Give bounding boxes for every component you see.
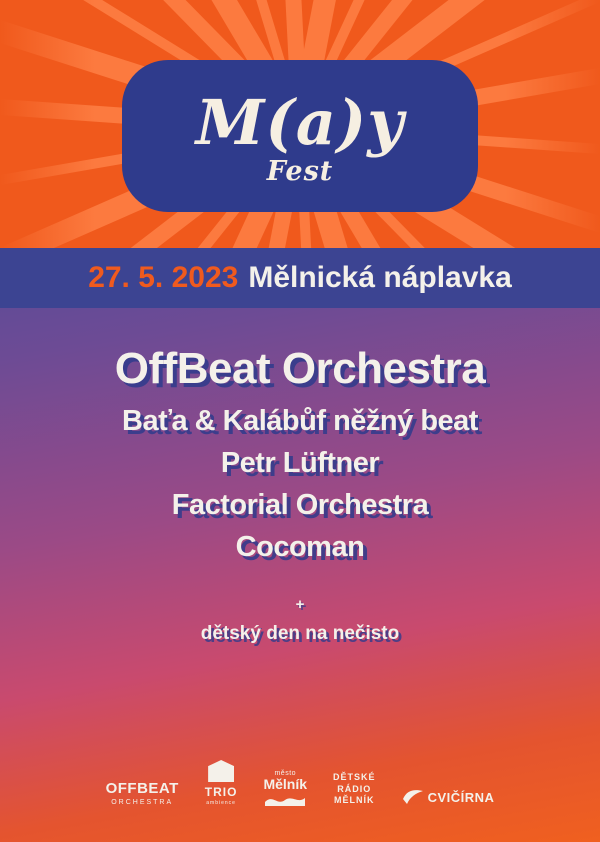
sponsor-label-3: MĚLNÍK: [334, 795, 375, 806]
sponsor-label: TRIO: [205, 786, 238, 798]
sunburst-fade-left: [0, 0, 95, 248]
extra-program: dětský den na nečisto: [0, 623, 600, 645]
sponsor-label: DĚTSKÉ: [333, 772, 376, 783]
date-bar: 27. 5. 2023 Mělnická náplavka: [0, 248, 600, 308]
trio-house-icon: [208, 760, 234, 782]
lineup-act: OffBeat Orchestra: [0, 346, 600, 392]
lineup-act: Cocoman: [0, 532, 600, 562]
logo-title: M(a)y: [196, 92, 405, 154]
sponsor-label: CVIČÍRNA: [428, 790, 495, 805]
logo-subtitle: Fest: [267, 158, 334, 185]
plus-sign: +: [0, 596, 600, 613]
sponsor-logos: OFFBEAT ORCHESTRA TRIO ambience město Mě…: [0, 760, 600, 806]
lineup-act: Baťa & Kalábůf něžný beat: [0, 406, 600, 436]
sponsor-label-2: RÁDIO: [337, 784, 371, 795]
festival-poster: M(a)y Fest 27. 5. 2023 Mělnická náplavka…: [0, 0, 600, 842]
sponsor-sublabel: ORCHESTRA: [111, 799, 173, 806]
melnik-wave-icon: [265, 794, 305, 806]
sponsor-sublabel: ambience: [206, 800, 236, 806]
lineup-act: Factorial Orchestra: [0, 490, 600, 520]
lineup: OffBeat Orchestra Baťa & Kalábůf něžný b…: [0, 318, 600, 645]
festival-logo: M(a)y Fest: [122, 60, 478, 212]
sponsor-cvicirna: CVIČÍRNA: [402, 760, 495, 806]
cvicirna-swoosh-icon: [402, 788, 424, 806]
sponsor-mesto-melnik: město Mělník: [263, 760, 307, 806]
event-place: Mělnická náplavka: [248, 261, 511, 295]
event-date: 27. 5. 2023: [88, 261, 238, 295]
sponsor-trio: TRIO ambience: [205, 760, 238, 806]
sunburst-header: M(a)y Fest: [0, 0, 600, 248]
sponsor-label: Mělník: [263, 777, 307, 792]
sponsor-detske-radio-melnik: DĚTSKÉ RÁDIO MĚLNÍK: [333, 760, 376, 806]
lineup-act: Petr Lüftner: [0, 448, 600, 478]
sponsor-label: OFFBEAT: [106, 781, 179, 796]
sponsor-offbeat-orchestra: OFFBEAT ORCHESTRA: [106, 760, 179, 806]
sunburst-fade-right: [505, 0, 600, 248]
